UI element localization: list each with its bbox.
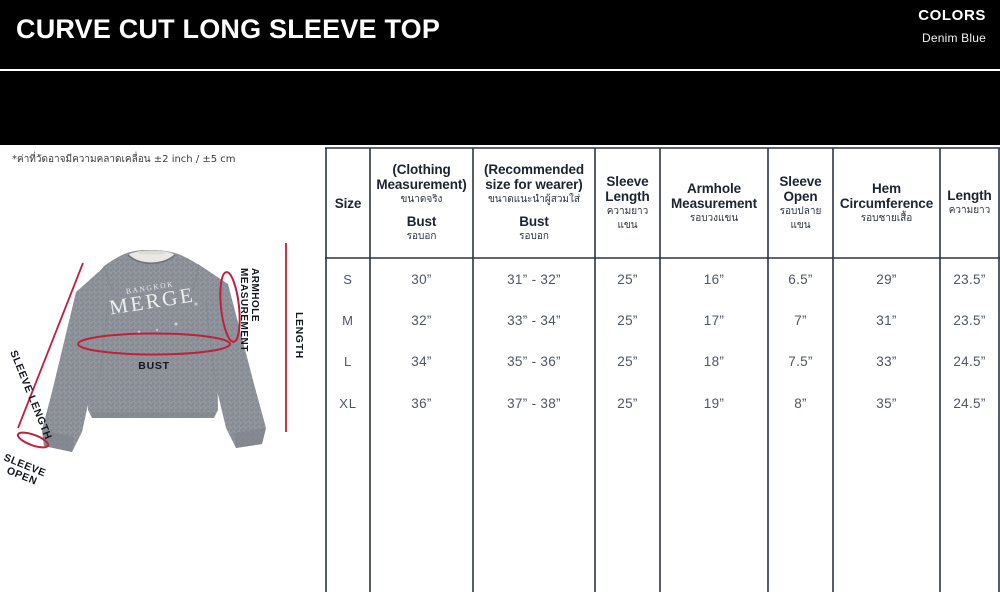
cell-size: L (344, 354, 352, 369)
label-sleeve-length: SLEEVE LENGTH (7, 349, 54, 442)
table-row: 25” (595, 341, 660, 382)
cell-length: 23.5” (953, 272, 985, 287)
size-chart-table: Size (Clothing Measurement) ขนาดจริง Bus… (325, 147, 1000, 592)
table-row: 23.5” (940, 300, 999, 341)
column-header-length: Length ความยาว (940, 148, 999, 258)
garment-diagram: BANGKOK MERGE SLEEVE LENGTH SLEEVE OP (0, 232, 322, 494)
header-en: (Clothing Measurement) (373, 162, 470, 192)
column-header-bust-clothing: (Clothing Measurement) ขนาดจริง Bust รอบ… (370, 148, 473, 258)
table-row: 34” (370, 341, 473, 382)
header-th: ขนาดจริง (401, 193, 443, 207)
column-header-hem-circumference: Hem Circumference รอบชายเสื้อ (833, 148, 940, 258)
table-row: 36” (370, 383, 473, 424)
table-row: XL (326, 383, 370, 424)
cell-size: S (343, 272, 352, 287)
table-row: 25” (595, 300, 660, 341)
header-th-sub: รอบอก (519, 230, 549, 244)
table-row: 23.5” (940, 259, 999, 300)
cell-hem: 31” (876, 313, 896, 328)
cell-hem: 29” (876, 272, 896, 287)
cell-length: 23.5” (953, 313, 985, 328)
cell-bust-recommended: 35” - 36” (507, 354, 561, 369)
cell-bust-recommended: 31” - 32” (507, 272, 561, 287)
table-row: 31” (833, 300, 940, 341)
cell-hem: 33” (876, 354, 896, 369)
header-en: Hem Circumference (836, 181, 937, 211)
cell-armhole: 16” (704, 272, 724, 287)
colors-value: Denim Blue (918, 28, 986, 48)
page-title: CURVE CUT LONG SLEEVE TOP (16, 14, 440, 45)
measurement-disclaimer: *ค่าที่วัดอาจมีความคลาดเคลื่อน ±2 inch /… (12, 152, 236, 167)
label-armhole-2: MEASUREMENT (238, 268, 249, 352)
header-en: Sleeve Length (598, 174, 657, 204)
header-th: ความยาวแขน (598, 205, 657, 233)
table-row: 6.5” (768, 259, 833, 300)
table-row: 35” - 36” (473, 341, 595, 382)
colors-heading: COLORS (918, 6, 986, 26)
cell-sleeve-open: 7” (794, 313, 807, 328)
table-row: 25” (595, 383, 660, 424)
table-row: 24.5” (940, 383, 999, 424)
table-row: 18” (660, 341, 768, 382)
table-row: 7.5” (768, 341, 833, 382)
cell-bust-clothing: 36” (411, 396, 431, 411)
header-banner: CURVE CUT LONG SLEEVE TOP COLORS Denim B… (0, 0, 1000, 69)
header-en: (Recommended size for wearer) (476, 162, 592, 192)
colors-block: COLORS Denim Blue (918, 6, 986, 48)
table-row: 31” - 32” (473, 259, 595, 300)
header-th: รอบชายเสื้อ (861, 212, 913, 226)
header-th: ขนาดแนะนำผู้สวมใส่ (488, 193, 580, 207)
header-th: รอบวงแขน (690, 212, 738, 226)
column-header-armhole: Armhole Measurement รอบวงแขน (660, 148, 768, 258)
table-row: 24.5” (940, 341, 999, 382)
cell-sleeve-open: 7.5” (788, 354, 812, 369)
table-row: L (326, 341, 370, 382)
header-th: ความยาว (949, 204, 991, 218)
table-row: 7” (768, 300, 833, 341)
cell-bust-clothing: 30” (411, 272, 431, 287)
table-row: 37” - 38” (473, 383, 595, 424)
table-row: 29” (833, 259, 940, 300)
header-en: Sleeve Open (771, 174, 830, 204)
cell-hem: 35” (876, 396, 896, 411)
cell-bust-clothing: 34” (411, 354, 431, 369)
header-en-sub: Bust (519, 214, 549, 229)
cell-length: 24.5” (953, 354, 985, 369)
table-row: 32” (370, 300, 473, 341)
cell-sleeve-length: 25” (617, 396, 637, 411)
cell-bust-clothing: 32” (411, 313, 431, 328)
cell-armhole: 17” (704, 313, 724, 328)
cell-sleeve-open: 8” (794, 396, 807, 411)
cell-bust-recommended: 33” - 34” (507, 313, 561, 328)
label-armhole-1: ARMHOLE (249, 268, 260, 322)
cell-size: XL (339, 396, 357, 411)
column-header-sleeve-open: Sleeve Open รอบปลายแขน (768, 148, 833, 258)
cell-sleeve-length: 25” (617, 354, 637, 369)
header-th: รอบปลายแขน (771, 205, 830, 233)
cell-length: 24.5” (953, 396, 985, 411)
table-row: 33” (833, 341, 940, 382)
label-bust: BUST (138, 360, 169, 372)
table-row: 17” (660, 300, 768, 341)
cell-sleeve-open: 6.5” (788, 272, 812, 287)
table-row: 19” (660, 383, 768, 424)
table-row: M (326, 300, 370, 341)
column-header-bust-recommended: (Recommended size for wearer) ขนาดแนะนำผ… (473, 148, 595, 258)
table-row: 35” (833, 383, 940, 424)
table-row: S (326, 259, 370, 300)
label-length: LENGTH (293, 312, 305, 359)
header-en: Armhole Measurement (663, 181, 765, 211)
table-row: 33” - 34” (473, 300, 595, 341)
header-th-sub: รอบอก (407, 230, 437, 244)
cell-sleeve-length: 25” (617, 272, 637, 287)
table-row: 16” (660, 259, 768, 300)
cell-armhole: 18” (704, 354, 724, 369)
header-en: Size (335, 196, 362, 211)
table-row: 30” (370, 259, 473, 300)
column-header-sleeve-length: Sleeve Length ความยาวแขน (595, 148, 660, 258)
cell-size: M (342, 313, 354, 328)
header-en-sub: Bust (407, 214, 437, 229)
cell-armhole: 19” (704, 396, 724, 411)
cell-bust-recommended: 37” - 38” (507, 396, 561, 411)
table-row: 8” (768, 383, 833, 424)
table-row: 25” (595, 259, 660, 300)
header-en: Length (947, 188, 991, 203)
header-banner-secondary (0, 71, 1000, 145)
column-header-size: Size (326, 148, 370, 258)
cell-sleeve-length: 25” (617, 313, 637, 328)
